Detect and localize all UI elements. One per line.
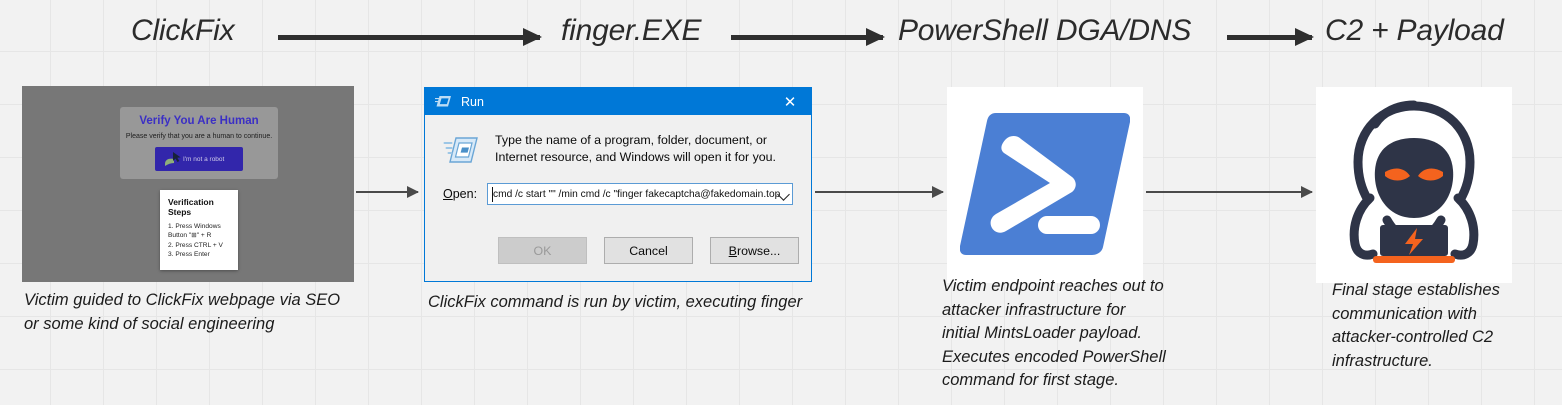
run-open-row: Open: cmd /c start "" /min cmd /c "finge… bbox=[443, 183, 793, 205]
verification-steps-title: Verification Steps bbox=[168, 197, 230, 217]
c2-caption-line2: communication with bbox=[1332, 303, 1547, 327]
stage-label-finger: finger.EXE bbox=[561, 14, 701, 48]
captcha-title: Verify You Are Human bbox=[120, 115, 278, 127]
connector-arrow-3 bbox=[1146, 191, 1312, 193]
run-open-label-accel: O bbox=[443, 187, 453, 201]
verification-step-item: 3. Press Enter bbox=[168, 250, 230, 259]
run-dialog-description: Type the name of a program, folder, docu… bbox=[495, 132, 793, 166]
verification-steps-title-line2: Steps bbox=[168, 207, 230, 217]
run-open-label: Open: bbox=[443, 187, 487, 201]
connector-arrow-2 bbox=[815, 191, 943, 193]
powershell-panel bbox=[947, 87, 1143, 283]
c2-caption-line4: infrastructure. bbox=[1332, 350, 1547, 374]
run-window-icon bbox=[435, 95, 452, 108]
browse-button[interactable]: Browse... bbox=[710, 237, 799, 264]
powershell-caption-line4: Executes encoded PowerShell bbox=[942, 346, 1172, 370]
verification-steps-list: 1. Press Windows Button "⊞" + R 2. Press… bbox=[168, 222, 230, 260]
close-icon[interactable]: ✕ bbox=[769, 88, 811, 115]
c2-panel bbox=[1316, 87, 1512, 283]
captcha-card: Verify You Are Human Please verify that … bbox=[120, 107, 278, 179]
run-dialog-titlebar: Run ✕ bbox=[425, 88, 811, 115]
clickfix-webpage-panel: Verify You Are Human Please verify that … bbox=[22, 86, 354, 282]
run-command-value: cmd /c start "" /min cmd /c "finger fake… bbox=[493, 189, 780, 200]
stage-label-c2: C2 + Payload bbox=[1325, 14, 1504, 48]
captcha-subtitle: Please verify that you are a human to co… bbox=[120, 133, 278, 140]
powershell-caption-line2: attacker infrastructure for bbox=[942, 299, 1172, 323]
run-dialog-caption: ClickFix command is run by victim, execu… bbox=[428, 291, 828, 315]
c2-caption-line1: Final stage establishes bbox=[1332, 279, 1547, 303]
run-dialog-body: Type the name of a program, folder, docu… bbox=[425, 115, 811, 166]
verification-step-item: 1. Press Windows bbox=[168, 222, 230, 231]
cancel-button[interactable]: Cancel bbox=[604, 237, 693, 264]
connector-arrow-1 bbox=[356, 191, 418, 193]
clickfix-caption: Victim guided to ClickFix webpage via SE… bbox=[24, 289, 414, 336]
browse-button-rest: rowse... bbox=[737, 244, 780, 258]
clickfix-caption-line1: Victim guided to ClickFix webpage via SE… bbox=[24, 289, 414, 313]
hacker-icon bbox=[1325, 94, 1503, 277]
run-dialog-caption-line1: ClickFix command is run by victim, execu… bbox=[428, 291, 828, 315]
clickfix-caption-line2: or some kind of social engineering bbox=[24, 313, 414, 337]
stage-label-clickfix: ClickFix bbox=[131, 14, 234, 48]
windows-run-dialog: Run ✕ Type the name of a program, folder… bbox=[424, 87, 812, 282]
verification-steps-card: Verification Steps 1. Press Windows Butt… bbox=[160, 190, 238, 270]
verification-steps-title-line1: Verification bbox=[168, 197, 230, 207]
powershell-icon bbox=[960, 103, 1130, 268]
run-command-input[interactable]: cmd /c start "" /min cmd /c "finger fake… bbox=[487, 183, 793, 205]
run-open-label-rest: pen: bbox=[453, 187, 477, 201]
run-dialog-title: Run bbox=[461, 95, 484, 109]
stage-arrow-1 bbox=[278, 35, 540, 40]
cursor-click-icon bbox=[161, 150, 183, 168]
powershell-caption: Victim endpoint reaches out to attacker … bbox=[942, 275, 1172, 393]
verification-step-item: Button "⊞" + R bbox=[168, 231, 230, 240]
verification-step-item: 2. Press CTRL + V bbox=[168, 241, 230, 250]
powershell-caption-line5: command for first stage. bbox=[942, 369, 1172, 393]
browse-button-accel: B bbox=[729, 244, 737, 258]
c2-caption-line3: attacker-controlled C2 bbox=[1332, 326, 1547, 350]
stage-label-powershell: PowerShell DGA/DNS bbox=[898, 14, 1191, 48]
powershell-caption-line3: initial MintsLoader payload. bbox=[942, 322, 1172, 346]
run-dialog-buttons: OK Cancel Browse... bbox=[498, 237, 799, 264]
im-not-a-robot-label: I'm not a robot bbox=[183, 156, 224, 163]
stage-arrow-3 bbox=[1227, 35, 1312, 40]
powershell-caption-line1: Victim endpoint reaches out to bbox=[942, 275, 1172, 299]
run-program-icon bbox=[443, 134, 479, 166]
im-not-a-robot-button[interactable]: I'm not a robot bbox=[155, 147, 243, 171]
text-caret bbox=[492, 187, 493, 202]
infection-chain-diagram: ClickFix finger.EXE PowerShell DGA/DNS C… bbox=[0, 0, 1562, 405]
ok-button[interactable]: OK bbox=[498, 237, 587, 264]
stage-arrow-2 bbox=[731, 35, 883, 40]
c2-caption: Final stage establishes communication wi… bbox=[1332, 279, 1547, 373]
